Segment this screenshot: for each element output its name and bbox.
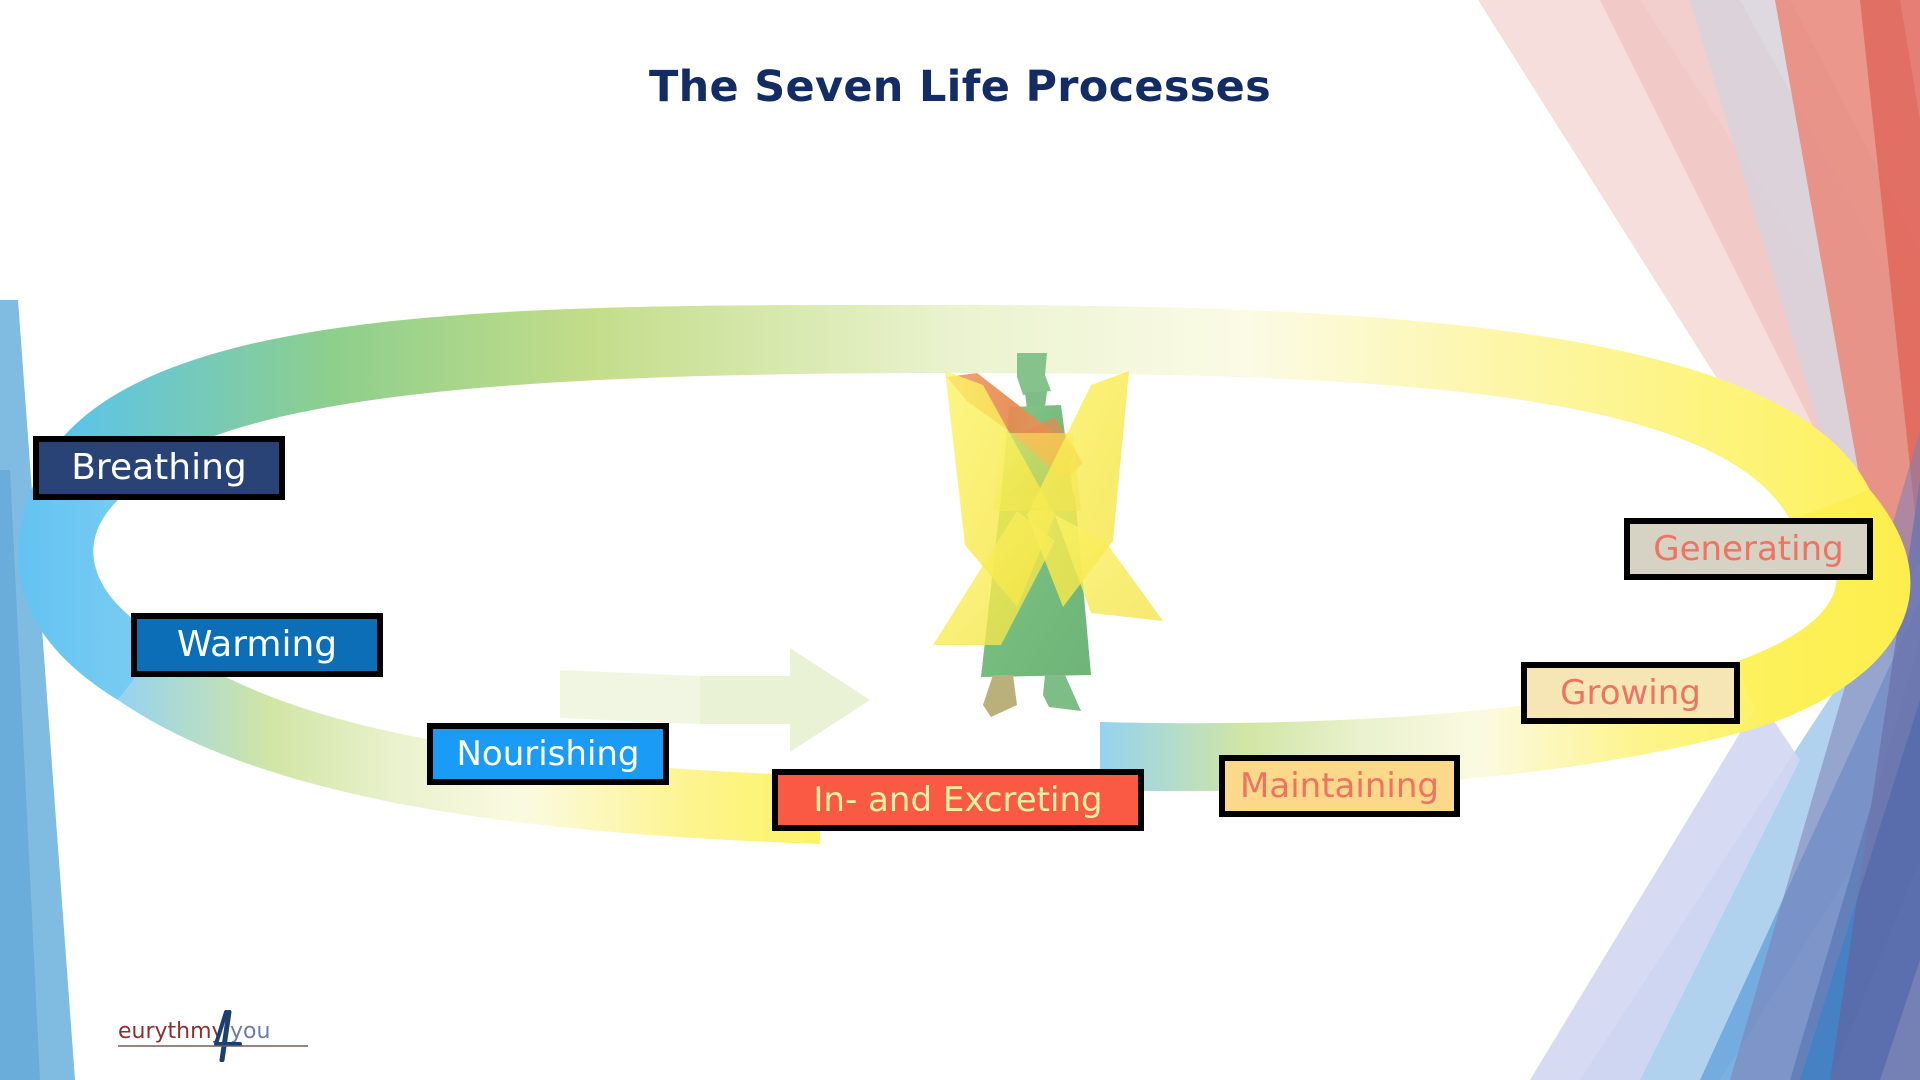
process-box-warming[interactable]: Warming	[131, 613, 383, 677]
process-box-in-and-excreting[interactable]: In- and Excreting	[772, 769, 1144, 831]
fan-lavender-1	[1530, 700, 1800, 1080]
figure-veil-left	[945, 371, 1055, 607]
process-label-nourishing: Nourishing	[456, 737, 639, 771]
process-label-generating: Generating	[1653, 532, 1843, 566]
figure-torso	[1001, 405, 1073, 497]
figure-shoe-right	[1043, 675, 1081, 711]
fan-red-1	[1775, 0, 1920, 820]
loop-band-top	[40, 305, 1870, 520]
eurythmy-figure-illustration	[905, 345, 1175, 740]
logo-text-you: you	[230, 1019, 270, 1044]
figure-veil-right	[1027, 371, 1129, 607]
brand-logo[interactable]: eurythmy you	[118, 1010, 308, 1062]
figure-veil-right-lower	[1055, 515, 1163, 621]
process-box-growing[interactable]: Growing	[1521, 662, 1740, 724]
fan-blue-3	[1790, 640, 1920, 1080]
logo-text-eurythmy: eurythmy	[118, 1019, 225, 1044]
process-box-maintaining[interactable]: Maintaining	[1219, 755, 1460, 817]
process-label-in-and-excreting: In- and Excreting	[813, 783, 1102, 817]
figure-head	[1017, 353, 1051, 395]
process-label-maintaining: Maintaining	[1240, 769, 1439, 803]
figure-neck	[1025, 391, 1047, 409]
figure-veil-cross	[993, 433, 1081, 511]
fan-blue-light-1	[1580, 560, 1920, 1080]
process-box-breathing[interactable]: Breathing	[33, 436, 285, 500]
figure-arm-right	[1013, 417, 1083, 481]
slide-canvas: The Seven Life Processes Breathing Warmi…	[0, 0, 1920, 1080]
process-box-nourishing[interactable]: Nourishing	[427, 723, 669, 785]
left-wedge-shape-2	[0, 470, 40, 1080]
loop-arrowhead-tail	[560, 670, 700, 724]
figure-skirt	[981, 495, 1091, 677]
left-wedge-shape	[0, 300, 75, 1080]
loop-arrowhead	[700, 648, 870, 752]
page-title: The Seven Life Processes	[0, 62, 1920, 112]
figure-arms	[947, 373, 1075, 473]
fan-grey-1	[1690, 0, 1920, 760]
process-label-warming: Warming	[177, 627, 337, 663]
process-box-generating[interactable]: Generating	[1624, 518, 1873, 580]
figure-veil-left-lower	[933, 511, 1055, 645]
figure-shoe-left	[983, 675, 1017, 717]
process-label-breathing: Breathing	[71, 450, 247, 486]
process-label-growing: Growing	[1560, 676, 1701, 710]
